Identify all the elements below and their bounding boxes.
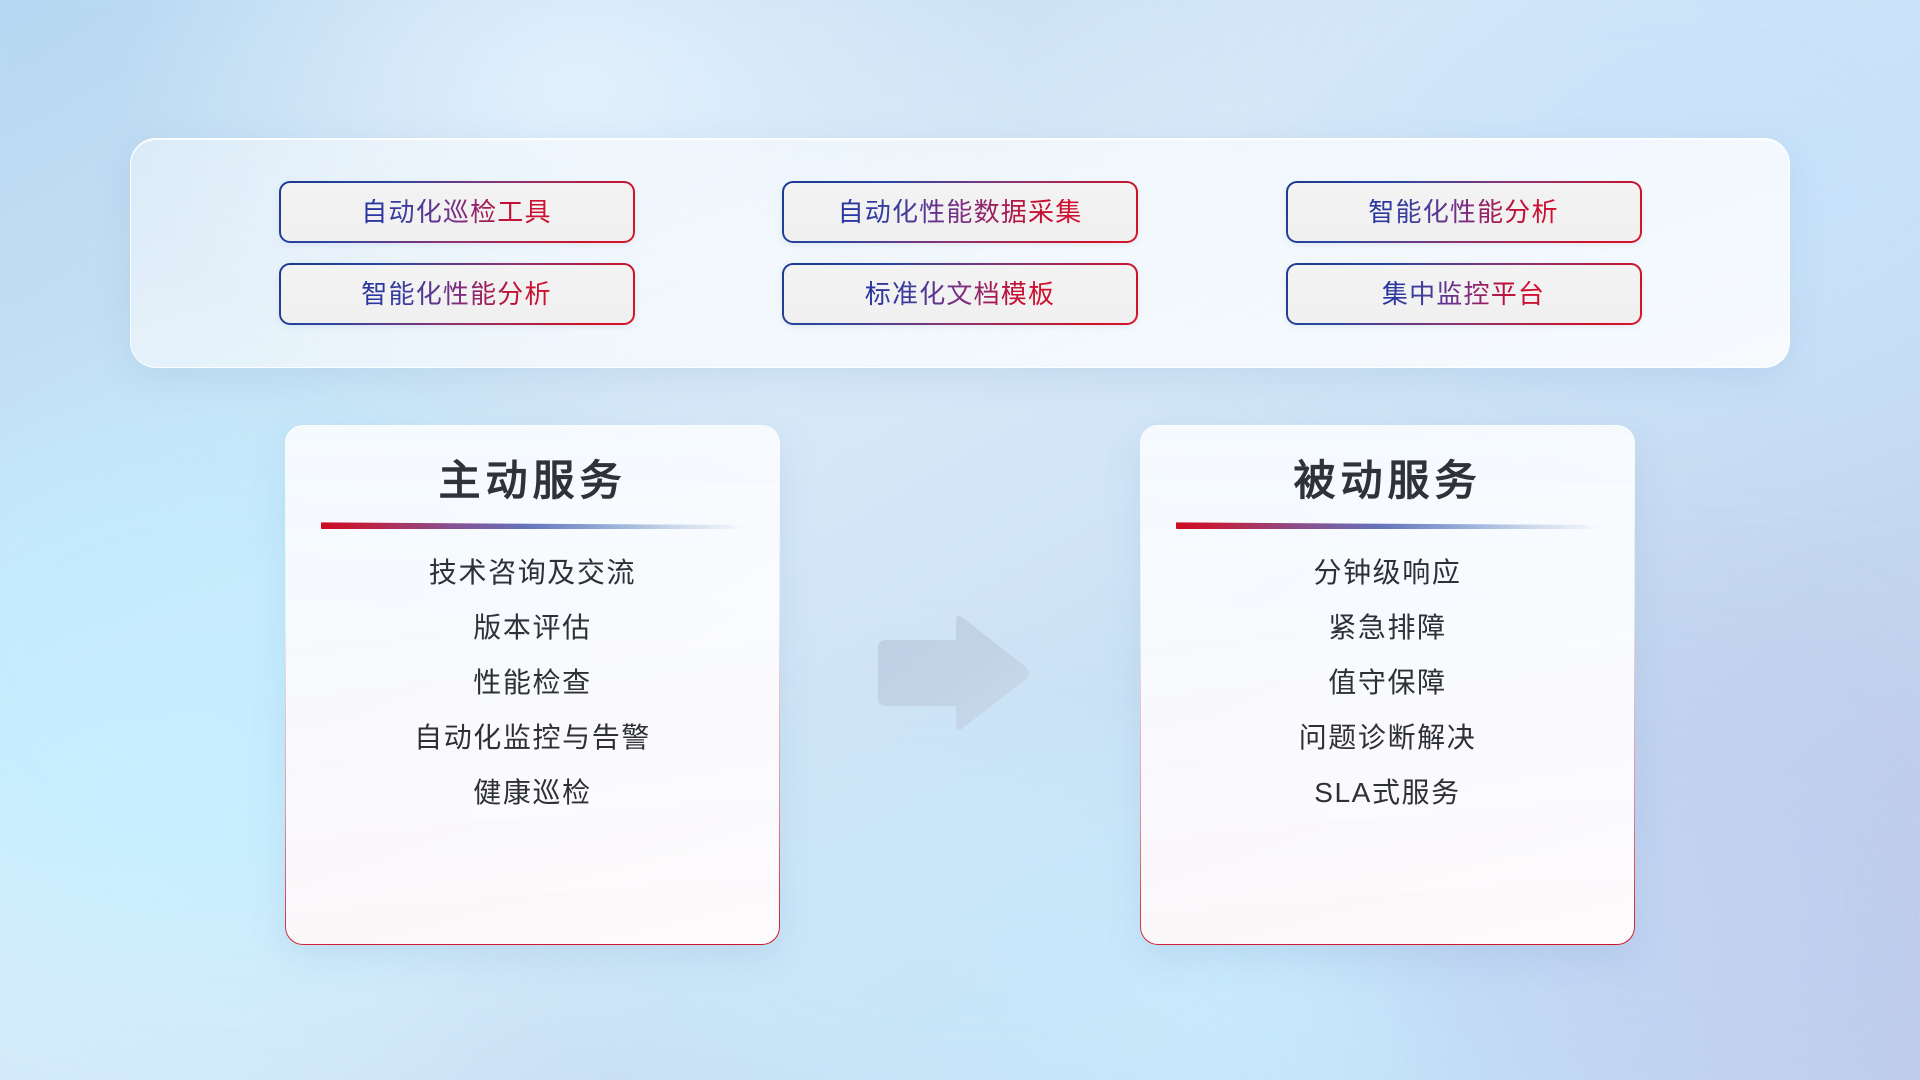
list-item: 自动化监控与告警 [414,720,651,755]
list-item: 性能检查 [473,665,591,700]
capability-tag-label: 自动化巡检工具 [361,199,551,225]
card-divider-wrap [1141,522,1634,529]
card-divider [321,522,745,529]
list-item: 版本评估 [473,610,591,645]
service-card-proactive: 主动服务 技术咨询及交流 版本评估 性能检查 自动化监控与告警 健康巡检 [285,425,780,945]
list-item: 值守保障 [1328,665,1446,700]
list-item: 紧急排障 [1328,610,1446,645]
capability-tag-intelligent-performance-analysis-2[interactable]: 智能化性能分析 [279,263,635,325]
card-title: 被动服务 [1293,456,1481,506]
capability-row-2: 智能化性能分析 标准化文档模板 集中监控平台 [131,263,1789,325]
list-item: 技术咨询及交流 [429,555,636,590]
card-item-list: 分钟级响应 紧急排障 值守保障 问题诊断解决 SLA式服务 [1141,555,1634,810]
capability-tag-label: 集中监控平台 [1382,281,1545,307]
capability-tag-standardized-doc-template[interactable]: 标准化文档模板 [782,263,1138,325]
capability-tag-label: 智能化性能分析 [1368,199,1558,225]
list-item: SLA式服务 [1314,775,1461,810]
capability-tag-label: 标准化文档模板 [865,281,1055,307]
right-arrow-icon [872,612,1032,734]
capability-tag-automated-inspection-tool[interactable]: 自动化巡检工具 [279,181,635,243]
list-item: 分钟级响应 [1313,555,1461,590]
capability-tag-label: 智能化性能分析 [361,281,551,307]
capability-tag-label: 自动化性能数据采集 [838,199,1083,225]
list-item: 健康巡检 [473,775,591,810]
flow-arrow [872,612,1032,734]
capability-tag-automated-performance-data-collection[interactable]: 自动化性能数据采集 [782,181,1138,243]
capability-tag-intelligent-performance-analysis-1[interactable]: 智能化性能分析 [1286,181,1642,243]
card-item-list: 技术咨询及交流 版本评估 性能检查 自动化监控与告警 健康巡检 [286,555,779,810]
card-divider [1176,522,1600,529]
card-divider-wrap [286,522,779,529]
capability-row-1: 自动化巡检工具 自动化性能数据采集 智能化性能分析 [131,181,1789,243]
capability-panel: 自动化巡检工具 自动化性能数据采集 智能化性能分析 智能化性能分析 标准化文档模… [130,138,1790,368]
card-title: 主动服务 [438,456,626,506]
capability-tag-centralized-monitoring-platform[interactable]: 集中监控平台 [1286,263,1642,325]
service-card-reactive: 被动服务 分钟级响应 紧急排障 值守保障 问题诊断解决 SLA式服务 [1140,425,1635,945]
list-item: 问题诊断解决 [1299,720,1477,755]
